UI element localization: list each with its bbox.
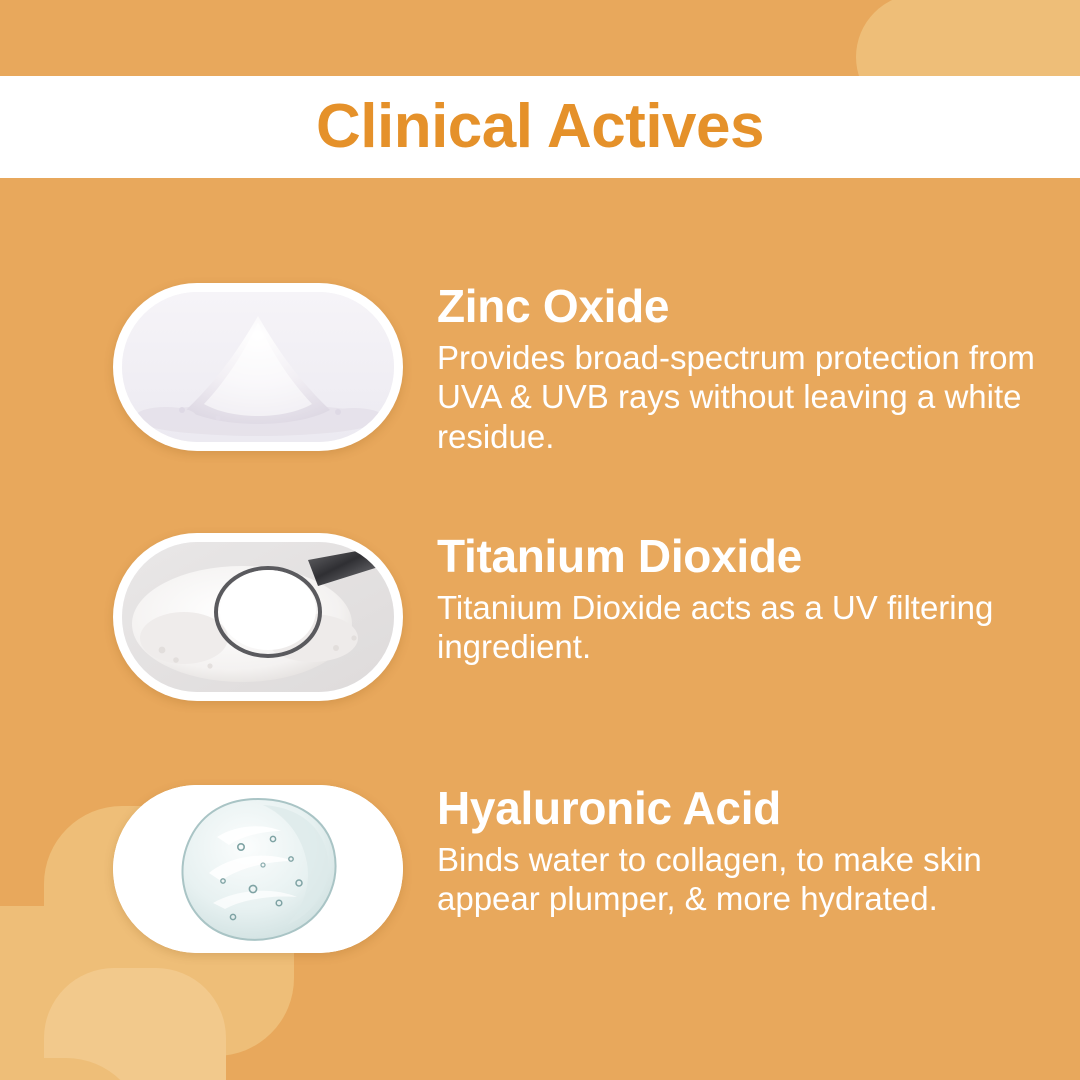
- clover-petal-bottom-left-c: [44, 968, 226, 1080]
- ingredient-name: Hyaluronic Acid: [437, 785, 1046, 833]
- ingredient-description: Provides broad-spectrum protection from …: [437, 338, 1037, 457]
- list-item: Hyaluronic Acid Binds water to collagen,…: [0, 785, 1080, 953]
- ingredient-name: Titanium Dioxide: [437, 533, 1046, 581]
- ingredient-description: Binds water to collagen, to make skin ap…: [437, 840, 1037, 919]
- ingredient-name: Zinc Oxide: [437, 283, 1046, 331]
- hyaluronic-acid-gel-drop-icon: [113, 785, 403, 953]
- list-item: Zinc Oxide Provides broad-spectrum prote…: [0, 283, 1080, 457]
- ingredient-text-zinc-oxide: Zinc Oxide Provides broad-spectrum prote…: [437, 283, 1080, 457]
- ingredient-thumbnail-zinc-oxide: [113, 283, 403, 451]
- header-band: Clinical Actives: [0, 76, 1080, 178]
- ingredient-text-hyaluronic-acid: Hyaluronic Acid Binds water to collagen,…: [437, 785, 1080, 919]
- clover-petal-bottom-left-d: [0, 1058, 144, 1080]
- list-item: Titanium Dioxide Titanium Dioxide acts a…: [0, 533, 1080, 701]
- ingredient-thumbnail-hyaluronic-acid: [113, 785, 403, 953]
- thumbnail-image-frame: [113, 785, 403, 953]
- zinc-oxide-powder-icon: [122, 292, 394, 442]
- ingredient-description: Titanium Dioxide acts as a UV filtering …: [437, 588, 1037, 667]
- flower-petal-top-right-center: [926, 0, 1058, 88]
- ingredient-thumbnail-titanium-dioxide: [113, 533, 403, 701]
- ingredient-text-titanium-dioxide: Titanium Dioxide Titanium Dioxide acts a…: [437, 533, 1080, 667]
- page-title: Clinical Actives: [316, 96, 764, 158]
- thumbnail-image-frame: [122, 542, 394, 692]
- clinical-actives-poster: Clinical Actives: [0, 0, 1080, 1080]
- thumbnail-image-frame: [122, 292, 394, 442]
- titanium-dioxide-spoon-icon: [122, 542, 394, 692]
